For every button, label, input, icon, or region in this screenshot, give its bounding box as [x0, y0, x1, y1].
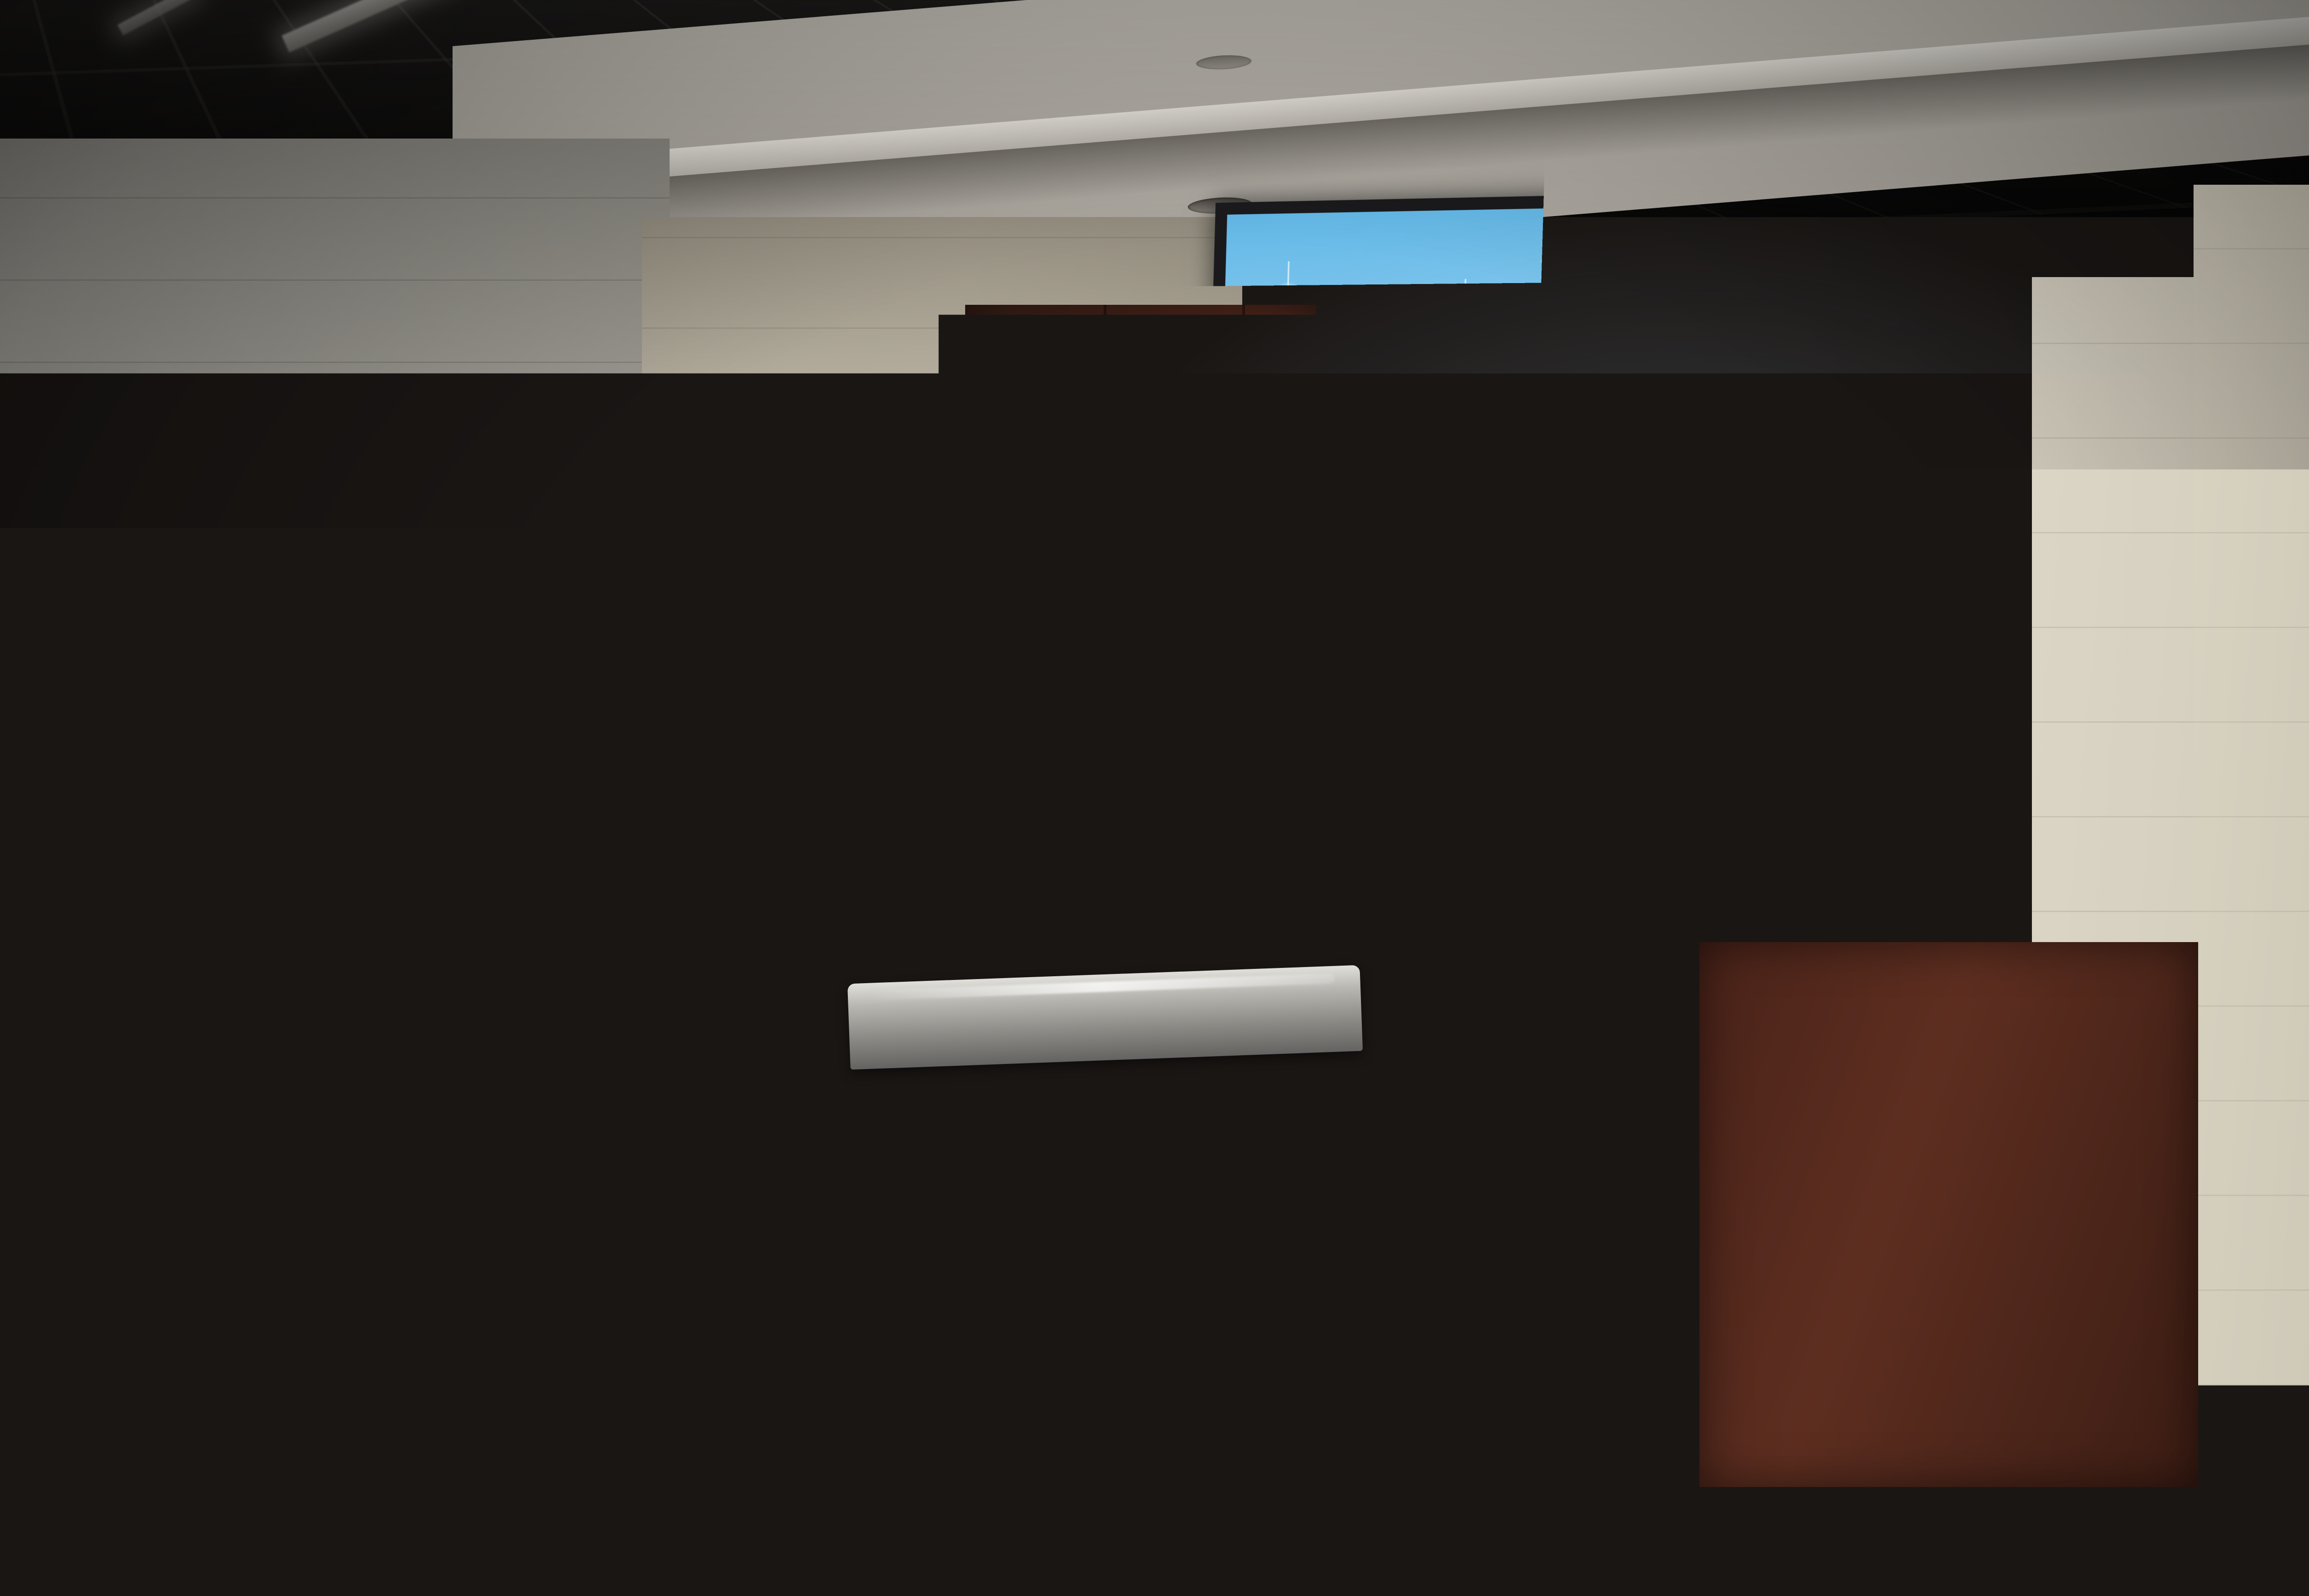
audience-chair[interactable]: [1662, 1427, 1880, 1596]
audience-chair[interactable]: [2134, 1432, 2309, 1596]
audience-chair[interactable]: [1427, 1413, 1649, 1596]
bottle-cap-icon: [1641, 1532, 1655, 1544]
audience-chair[interactable]: [1898, 1418, 2120, 1596]
projector-power-led: [1548, 1288, 1555, 1296]
projector-vent-icon: [1537, 1314, 1635, 1345]
lecture-hall-photo: 安全出口 机械学院2016年暑期 “三下乡”社会实践推介会: [0, 0, 2309, 1596]
projector-focus-knob[interactable]: [1566, 1322, 1584, 1340]
audience-chair[interactable]: [466, 1413, 688, 1596]
projector[interactable]: [1523, 1257, 1724, 1360]
water-bottle[interactable]: [1635, 1542, 1662, 1596]
